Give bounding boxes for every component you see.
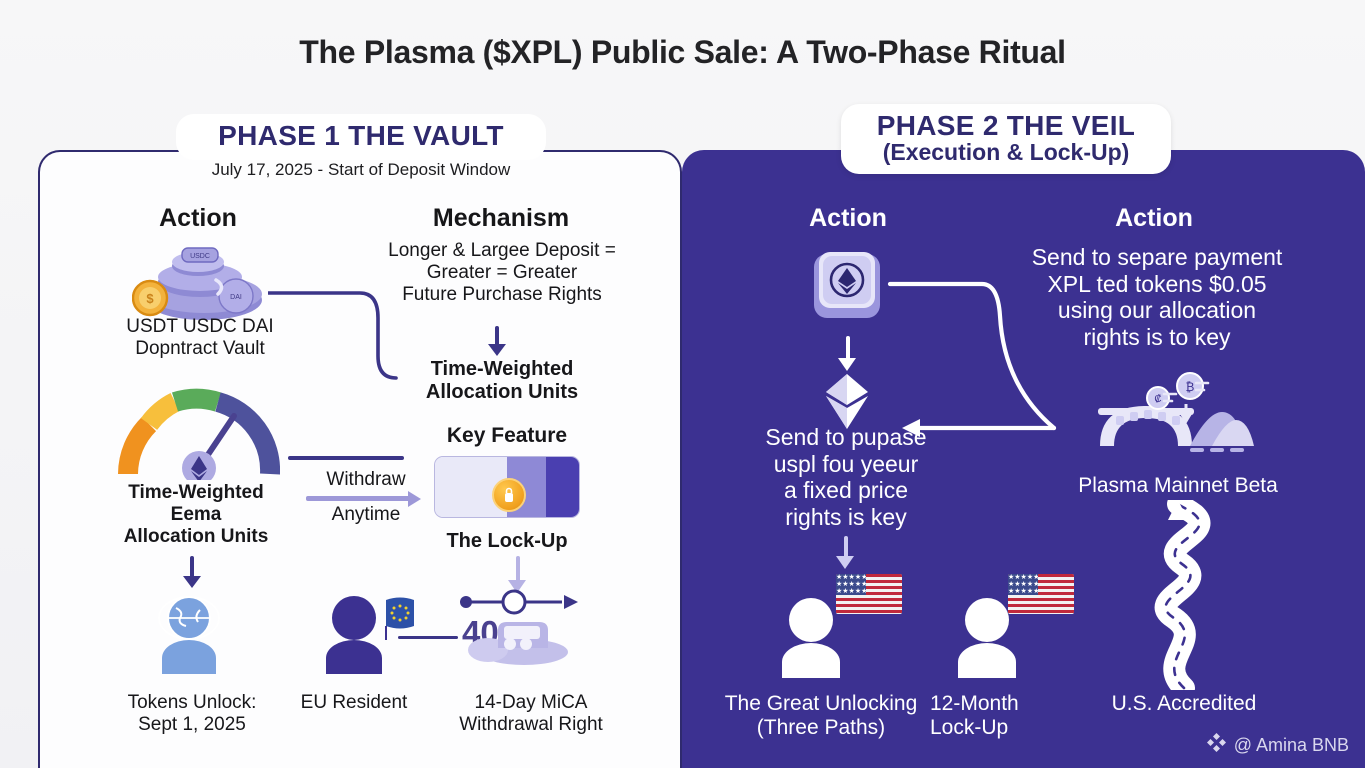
lock-coin-icon <box>492 478 526 512</box>
withdraw-label-top: Withdraw <box>300 469 432 491</box>
infographic-canvas: The Plasma ($XPL) Public Sale: A Two-Pha… <box>0 0 1365 768</box>
phase1-subtitle: July 17, 2025 - Start of Deposit Window <box>176 160 546 180</box>
mechanism-description: Longer & Largee Deposit = Greater = Grea… <box>372 240 632 306</box>
winding-road-icon <box>1110 500 1258 695</box>
watermark-text: @ Amina BNB <box>1234 735 1349 756</box>
flag-canton: ★★★★★★★★★★★★★★★★★★ <box>1008 574 1038 595</box>
svg-text:DAI: DAI <box>230 294 242 301</box>
page-title: The Plasma ($XPL) Public Sale: A Two-Pha… <box>0 34 1365 71</box>
tokens-unlock-caption: Tokens Unlock: Sept 1, 2025 <box>104 692 280 736</box>
mica-caption: 14-Day MiCA Withdrawal Right <box>436 692 626 736</box>
phase1-mechanism-heading: Mechanism <box>398 204 604 233</box>
binance-logo-icon <box>1206 732 1227 758</box>
flag-canton: ★★★★★★★★★★★★★★★★★★ <box>836 574 866 595</box>
person-icon-unlocking <box>774 598 848 683</box>
bridge-coins-icon: ₿ ₡ <box>1094 372 1260 463</box>
mechanism-result: Time-Weighted Allocation Units <box>388 358 616 404</box>
stablecoin-vault-icon: USDC DAI $ <box>132 240 272 324</box>
phase2-action-right-heading: Action <box>1054 204 1254 233</box>
vault-to-units-connector <box>268 288 398 389</box>
great-unlocking-caption: The Great Unlocking (Three Paths) <box>704 692 938 741</box>
phase1-badge: PHASE 1 THE VAULT <box>176 114 546 160</box>
timeline-vehicle-icon <box>452 586 584 673</box>
gauge-caption: Time-Weighted Eema Allocation Units <box>96 482 296 548</box>
lockup-caption: The Lock-Up <box>424 530 590 553</box>
globe-person-icon <box>152 596 226 679</box>
eu-resident-caption: EU Resident <box>274 692 434 714</box>
withdraw-label-bottom: Anytime <box>300 504 432 526</box>
svg-text:₡: ₡ <box>1154 393 1161 405</box>
phase2-badge-subtitle: (Execution & Lock-Up) <box>851 140 1161 165</box>
svg-text:₿: ₿ <box>1186 380 1195 394</box>
lockbar-segment-3 <box>546 457 579 517</box>
svg-text:USDC: USDC <box>190 253 210 260</box>
eu-to-mica-connector <box>398 636 458 639</box>
ethereum-key-icon <box>810 248 886 331</box>
lockup-12month-caption: 12-Month Lock-Up <box>930 692 1080 741</box>
key-feature-heading: Key Feature <box>426 424 588 448</box>
withdraw-connector-line <box>288 456 404 460</box>
person-icon-lockup <box>950 598 1024 683</box>
phase2-curve-connector <box>886 276 1126 453</box>
svg-text:$: $ <box>146 291 154 306</box>
us-accredited-caption: U.S. Accredited <box>1094 692 1274 716</box>
ethereum-gauge-icon <box>118 388 280 480</box>
phase1-action-heading: Action <box>98 204 298 233</box>
phase2-badge: PHASE 2 THE VEIL (Execution & Lock-Up) <box>841 104 1171 174</box>
bridge-caption: Plasma Mainnet Beta <box>1058 474 1298 498</box>
phase1-badge-title: PHASE 1 THE VAULT <box>186 120 536 152</box>
watermark: @ Amina BNB <box>1206 732 1349 758</box>
phase2-badge-title: PHASE 2 THE VEIL <box>851 111 1161 140</box>
phase2-action-left-heading: Action <box>748 204 948 233</box>
